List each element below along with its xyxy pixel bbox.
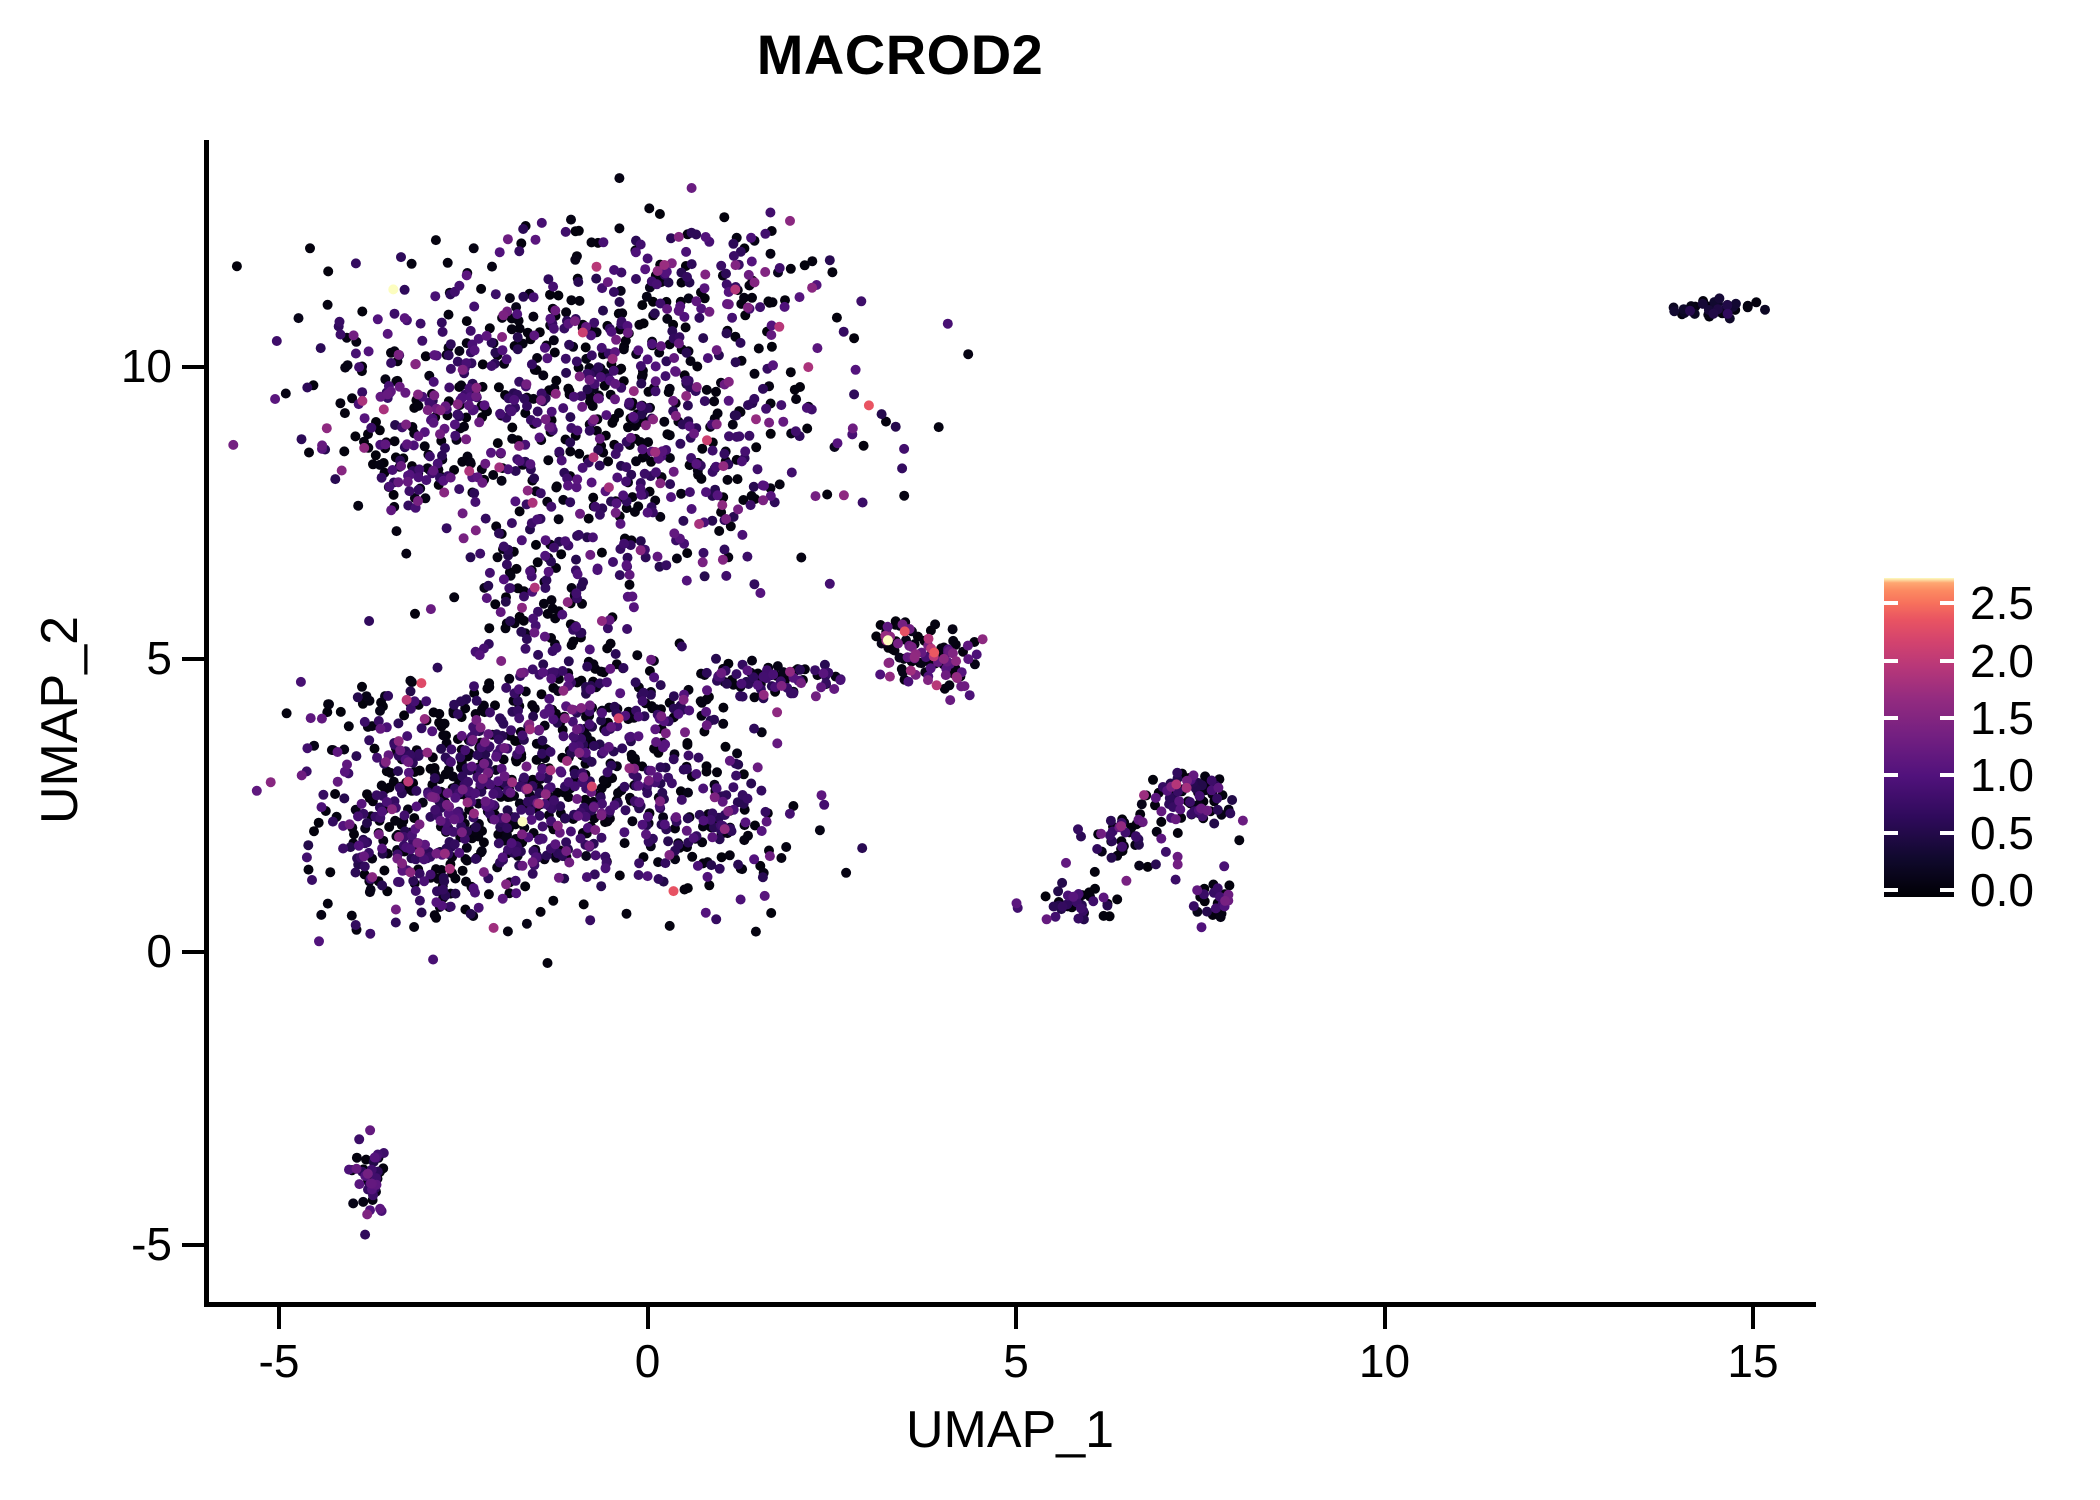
scatter-point — [476, 787, 486, 797]
scatter-point — [375, 724, 385, 734]
scatter-point — [581, 689, 591, 699]
scatter-point — [1173, 774, 1183, 784]
scatter-point — [623, 328, 633, 338]
scatter-point — [513, 706, 523, 716]
scatter-point — [392, 376, 402, 386]
scatter-point — [802, 424, 812, 434]
scatter-point — [1116, 844, 1126, 854]
scatter-point — [624, 398, 634, 408]
scatter-point — [502, 354, 512, 364]
scatter-point — [390, 796, 400, 806]
scatter-point — [1116, 821, 1126, 831]
scatter-point — [511, 834, 521, 844]
scatter-point — [1198, 797, 1208, 807]
scatter-point — [1690, 309, 1700, 319]
scatter-point — [384, 482, 394, 492]
scatter-point — [554, 447, 564, 457]
scatter-point — [394, 751, 404, 761]
scatter-point — [512, 841, 522, 851]
scatter-point — [638, 415, 648, 425]
scatter-point — [740, 805, 750, 815]
scatter-point — [409, 403, 419, 413]
scatter-point — [456, 380, 466, 390]
scatter-point — [382, 388, 392, 398]
scatter-point — [644, 387, 654, 397]
scatter-point — [537, 218, 547, 228]
scatter-point — [535, 811, 545, 821]
scatter-point — [430, 793, 440, 803]
scatter-point — [513, 332, 523, 342]
scatter-point — [821, 679, 831, 689]
scatter-point — [650, 308, 660, 318]
scatter-point — [1193, 800, 1203, 810]
scatter-point — [740, 446, 750, 456]
scatter-point — [595, 461, 605, 471]
scatter-point — [1090, 884, 1100, 894]
scatter-point — [548, 425, 558, 435]
scatter-point — [596, 881, 606, 891]
scatter-point — [491, 782, 501, 792]
scatter-point — [575, 628, 585, 638]
scatter-point — [531, 849, 541, 859]
scatter-point — [439, 488, 449, 498]
scatter-point — [507, 775, 517, 785]
scatter-point — [654, 874, 664, 884]
scatter-point — [362, 1170, 372, 1180]
scatter-point — [457, 457, 467, 467]
scatter-point — [514, 246, 524, 256]
scatter-point — [906, 666, 916, 676]
scatter-point — [712, 419, 722, 429]
scatter-point — [720, 380, 730, 390]
scatter-point — [800, 260, 810, 270]
scatter-point — [351, 805, 361, 815]
scatter-point — [1131, 831, 1141, 841]
scatter-point — [589, 741, 599, 751]
scatter-point — [1148, 775, 1158, 785]
scatter-point — [586, 787, 596, 797]
scatter-point — [604, 349, 614, 359]
scatter-point — [1171, 875, 1181, 885]
scatter-point — [515, 671, 525, 681]
scatter-point — [1195, 792, 1205, 802]
scatter-point — [460, 363, 470, 373]
scatter-point — [568, 625, 578, 635]
scatter-point — [773, 661, 783, 671]
scatter-point — [662, 304, 672, 314]
scatter-point — [1182, 783, 1192, 793]
scatter-point — [1125, 827, 1135, 837]
scatter-point — [721, 666, 731, 676]
scatter-point — [721, 790, 731, 800]
scatter-point — [1107, 853, 1117, 863]
scatter-point — [612, 721, 622, 731]
scatter-point — [560, 782, 570, 792]
scatter-point — [743, 794, 753, 804]
scatter-point — [644, 776, 654, 786]
scatter-point — [546, 427, 556, 437]
scatter-point — [445, 289, 455, 299]
scatter-point — [773, 268, 783, 278]
scatter-point — [520, 881, 530, 891]
scatter-point — [409, 922, 419, 932]
scatter-point — [579, 803, 589, 813]
scatter-point — [531, 486, 541, 496]
scatter-point — [939, 645, 949, 655]
scatter-point — [719, 449, 729, 459]
scatter-point — [625, 570, 635, 580]
scatter-point — [608, 354, 618, 364]
scatter-point — [706, 716, 716, 726]
scatter-point — [401, 755, 411, 765]
scatter-point — [452, 808, 462, 818]
scatter-point — [544, 694, 554, 704]
scatter-point — [455, 832, 465, 842]
scatter-point — [471, 822, 481, 832]
scatter-point — [440, 849, 450, 859]
scatter-point — [474, 417, 484, 427]
scatter-point — [548, 896, 558, 906]
scatter-point — [661, 445, 671, 455]
scatter-point — [1012, 898, 1022, 908]
scatter-point — [615, 871, 625, 881]
scatter-point — [422, 716, 432, 726]
scatter-point — [597, 708, 607, 718]
scatter-point — [620, 711, 630, 721]
scatter-point — [911, 649, 921, 659]
scatter-point — [507, 314, 517, 324]
scatter-point — [581, 322, 591, 332]
scatter-point — [665, 339, 675, 349]
scatter-point — [578, 320, 588, 330]
scatter-point — [481, 405, 491, 415]
scatter-point — [317, 440, 327, 450]
scatter-point — [558, 403, 568, 413]
scatter-point — [569, 705, 579, 715]
scatter-point — [789, 687, 799, 697]
scatter-point — [655, 762, 665, 772]
scatter-point — [542, 497, 552, 507]
scatter-point — [460, 747, 470, 757]
scatter-point — [333, 747, 343, 757]
scatter-point — [596, 716, 606, 726]
scatter-point — [563, 845, 573, 855]
scatter-point — [496, 656, 506, 666]
scatter-point — [537, 764, 547, 774]
scatter-point — [817, 790, 827, 800]
scatter-point — [592, 414, 602, 424]
scatter-point — [563, 481, 573, 491]
scatter-point — [367, 1179, 377, 1189]
scatter-point — [553, 848, 563, 858]
scatter-point — [760, 891, 770, 901]
scatter-point — [535, 774, 545, 784]
scatter-point — [457, 731, 467, 741]
scatter-point — [1227, 795, 1237, 805]
scatter-point — [410, 493, 420, 503]
scatter-point — [403, 501, 413, 511]
scatter-point — [362, 837, 372, 847]
scatter-point — [1677, 309, 1687, 319]
scatter-point — [504, 820, 514, 830]
scatter-point — [691, 459, 701, 469]
scatter-point — [397, 820, 407, 830]
scatter-point — [638, 696, 648, 706]
scatter-point — [584, 711, 594, 721]
scatter-point — [391, 743, 401, 753]
scatter-point — [611, 508, 621, 518]
scatter-point — [594, 394, 604, 404]
scatter-point — [1223, 890, 1233, 900]
scatter-point — [934, 422, 944, 432]
scatter-point — [426, 873, 436, 883]
scatter-point — [825, 579, 835, 589]
scatter-point — [681, 322, 691, 332]
scatter-point — [428, 396, 438, 406]
scatter-point — [395, 382, 405, 392]
scatter-point — [648, 414, 658, 424]
scatter-point — [565, 389, 575, 399]
scatter-point — [446, 889, 456, 899]
scatter-point — [624, 732, 634, 742]
scatter-point — [478, 756, 488, 766]
scatter-point — [917, 658, 927, 668]
scatter-point — [576, 703, 586, 713]
scatter-point — [550, 306, 560, 316]
scatter-point — [321, 806, 331, 816]
scatter-point — [462, 843, 472, 853]
scatter-point — [581, 783, 591, 793]
scatter-point — [731, 282, 741, 292]
scatter-point — [444, 902, 454, 912]
scatter-point — [483, 806, 493, 816]
scatter-point — [1112, 894, 1122, 904]
scatter-point — [712, 767, 722, 777]
scatter-point — [377, 880, 387, 890]
scatter-point — [382, 797, 392, 807]
scatter-point — [567, 583, 577, 593]
scatter-point — [541, 744, 551, 754]
scatter-point — [370, 1153, 380, 1163]
scatter-point — [252, 786, 262, 796]
scatter-point — [519, 592, 529, 602]
scatter-point — [885, 632, 895, 642]
scatter-point — [1119, 818, 1129, 828]
scatter-point — [1184, 773, 1194, 783]
scatter-point — [565, 471, 575, 481]
scatter-point — [709, 715, 719, 725]
scatter-point — [362, 789, 372, 799]
scatter-point — [528, 614, 538, 624]
scatter-point — [767, 321, 777, 331]
scatter-point — [423, 405, 433, 415]
scatter-point — [587, 703, 597, 713]
scatter-point — [1118, 842, 1128, 852]
scatter-point — [561, 368, 571, 378]
scatter-point — [691, 230, 701, 240]
scatter-point — [511, 876, 521, 886]
scatter-point — [721, 456, 731, 466]
scatter-point — [669, 754, 679, 764]
scatter-point — [648, 834, 658, 844]
scatter-point — [675, 638, 685, 648]
scatter-point — [525, 790, 535, 800]
scatter-point — [748, 675, 758, 685]
scatter-point — [504, 393, 514, 403]
scatter-point — [644, 203, 654, 213]
scatter-point — [424, 398, 434, 408]
scatter-point — [503, 848, 513, 858]
scatter-point — [428, 752, 438, 762]
scatter-point — [501, 413, 511, 423]
scatter-point — [587, 324, 597, 334]
scatter-point — [583, 455, 593, 465]
scatter-point — [534, 835, 544, 845]
scatter-point — [579, 899, 589, 909]
scatter-point — [1162, 786, 1172, 796]
scatter-point — [459, 365, 469, 375]
scatter-point — [357, 387, 367, 397]
scatter-point — [1743, 301, 1753, 311]
scatter-point — [426, 604, 436, 614]
scatter-point — [572, 474, 582, 484]
scatter-point — [386, 386, 396, 396]
scatter-point — [512, 757, 522, 767]
scatter-point — [380, 374, 390, 384]
scatter-point — [674, 339, 684, 349]
scatter-point — [505, 404, 515, 414]
scatter-point — [723, 552, 733, 562]
scatter-point — [549, 324, 559, 334]
scatter-point — [388, 284, 398, 294]
scatter-point — [719, 212, 729, 222]
scatter-point — [721, 571, 731, 581]
scatter-point — [610, 379, 620, 389]
scatter-point — [683, 416, 693, 426]
scatter-point — [544, 791, 554, 801]
scatter-point — [732, 432, 742, 442]
scatter-point — [392, 845, 402, 855]
scatter-point — [673, 709, 683, 719]
scatter-point — [458, 365, 468, 375]
scatter-point — [597, 808, 607, 818]
scatter-point — [631, 247, 641, 257]
scatter-point — [785, 667, 795, 677]
scatter-point — [568, 717, 578, 727]
scatter-point — [683, 883, 693, 893]
scatter-point — [727, 675, 737, 685]
scatter-point — [900, 675, 910, 685]
scatter-point — [1704, 305, 1714, 315]
scatter-point — [1143, 862, 1153, 872]
scatter-point — [575, 724, 585, 734]
scatter-point — [631, 274, 641, 284]
scatter-point — [412, 745, 422, 755]
scatter-point — [1117, 814, 1127, 824]
scatter-point — [540, 799, 550, 809]
scatter-point — [627, 401, 637, 411]
scatter-point — [545, 801, 555, 811]
scatter-point — [379, 805, 389, 815]
scatter-point — [958, 647, 968, 657]
scatter-point — [1176, 813, 1186, 823]
scatter-point — [734, 406, 744, 416]
scatter-point — [390, 346, 400, 356]
y-tick — [182, 365, 204, 369]
scatter-point — [670, 824, 680, 834]
scatter-point — [381, 390, 391, 400]
scatter-point — [468, 813, 478, 823]
scatter-point — [522, 634, 532, 644]
scatter-point — [890, 646, 900, 656]
scatter-point — [636, 545, 646, 555]
scatter-point — [951, 656, 961, 666]
scatter-point — [1708, 309, 1718, 319]
scatter-point — [593, 362, 603, 372]
scatter-point — [944, 646, 954, 656]
scatter-point — [677, 795, 687, 805]
scatter-point — [363, 1169, 373, 1179]
scatter-point — [364, 735, 374, 745]
scatter-point — [574, 449, 584, 459]
scatter-point — [515, 506, 525, 516]
scatter-point — [581, 812, 591, 822]
scatter-point — [682, 826, 692, 836]
scatter-point — [482, 593, 492, 603]
scatter-point — [1703, 302, 1713, 312]
scatter-point — [493, 438, 503, 448]
scatter-point — [650, 777, 660, 787]
scatter-point — [489, 923, 499, 933]
scatter-point — [459, 422, 469, 432]
scatter-point — [581, 753, 591, 763]
scatter-point — [394, 350, 404, 360]
scatter-point — [646, 471, 656, 481]
scatter-point — [939, 643, 949, 653]
scatter-point — [588, 532, 598, 542]
scatter-point — [556, 549, 566, 559]
scatter-point — [478, 774, 488, 784]
scatter-point — [522, 401, 532, 411]
scatter-point — [469, 488, 479, 498]
scatter-point — [562, 756, 572, 766]
scatter-point — [1709, 297, 1719, 307]
scatter-point — [785, 216, 795, 226]
scatter-point — [891, 616, 901, 626]
scatter-point — [516, 627, 526, 637]
scatter-point — [517, 829, 527, 839]
scatter-point — [490, 801, 500, 811]
scatter-point — [732, 669, 742, 679]
scatter-point — [582, 731, 592, 741]
scatter-point — [381, 757, 391, 767]
scatter-point — [485, 323, 495, 333]
scatter-point — [710, 780, 720, 790]
scatter-point — [602, 817, 612, 827]
scatter-point — [410, 609, 420, 619]
scatter-point — [725, 806, 735, 816]
scatter-point — [597, 283, 607, 293]
scatter-point — [386, 358, 396, 368]
scatter-point — [714, 526, 724, 536]
scatter-point — [685, 421, 695, 431]
scatter-point — [602, 857, 612, 867]
scatter-point — [405, 750, 415, 760]
scatter-point — [951, 640, 961, 650]
scatter-point — [512, 309, 522, 319]
scatter-point — [1058, 902, 1068, 912]
scatter-point — [807, 283, 817, 293]
